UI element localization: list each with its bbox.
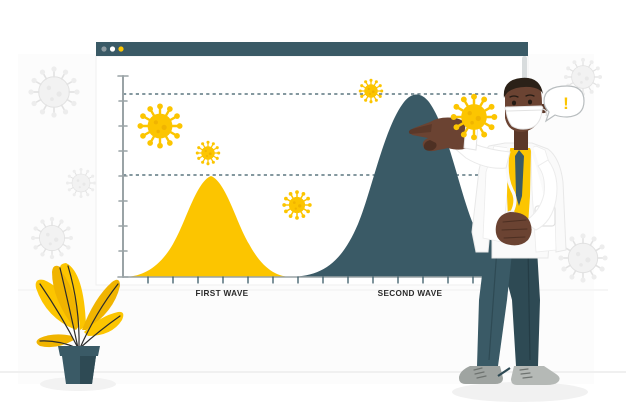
illustration-canvas: FIRST WAVE SECOND WAVE — [0, 0, 626, 417]
potted-plant — [0, 0, 626, 417]
plant-pot-rim — [58, 346, 100, 356]
